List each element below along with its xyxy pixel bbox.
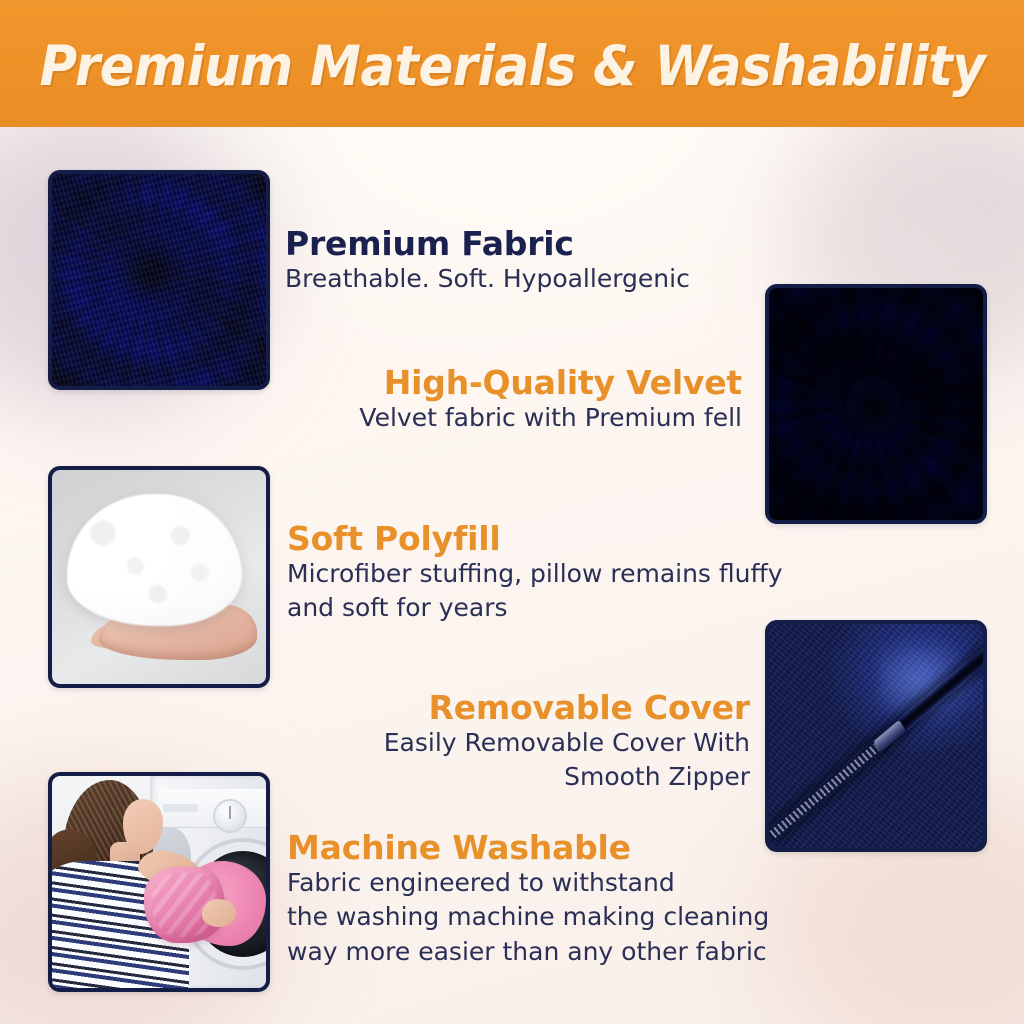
description-line: Easily Removable Cover With bbox=[290, 726, 750, 761]
feature-removable-cover: Removable Cover Easily Removable Cover W… bbox=[290, 690, 750, 795]
polyfill-scene-background bbox=[52, 470, 266, 684]
image-hand-holding-polyfill-stuffing bbox=[48, 466, 270, 688]
image-blue-knit-fabric-swatch bbox=[48, 170, 270, 390]
feature-description-soft-polyfill: Microfiber stuffing, pillow remains fluf… bbox=[287, 557, 787, 626]
page-title: Premium Materials & Washability bbox=[39, 34, 985, 98]
feature-description-machine-washable: Fabric engineered to withstand the washi… bbox=[287, 866, 787, 970]
description-line: and soft for years bbox=[287, 591, 787, 626]
header-banner: Premium Materials & Washability bbox=[0, 0, 1024, 127]
product-feature-infographic: Premium Materials & Washability bbox=[0, 0, 1024, 1024]
description-line: way more easier than any other fabric bbox=[287, 935, 787, 970]
navy-velvet-fabric-texture bbox=[769, 288, 983, 520]
feature-high-quality-velvet: High-Quality Velvet Velvet fabric with P… bbox=[280, 365, 742, 435]
feature-soft-polyfill: Soft Polyfill Microfiber stuffing, pillo… bbox=[287, 521, 787, 626]
image-zipper-on-blue-cover bbox=[765, 620, 987, 852]
feature-premium-fabric: Premium Fabric Breathable. Soft. Hypoall… bbox=[285, 226, 755, 296]
woman-hand bbox=[202, 899, 236, 927]
feature-description-high-quality-velvet: Velvet fabric with Premium fell bbox=[280, 401, 742, 436]
description-line: Velvet fabric with Premium fell bbox=[280, 401, 742, 436]
feature-machine-washable: Machine Washable Fabric engineered to wi… bbox=[287, 830, 787, 969]
feature-description-premium-fabric: Breathable. Soft. Hypoallergenic bbox=[285, 262, 755, 297]
feature-title-soft-polyfill: Soft Polyfill bbox=[287, 521, 787, 557]
zipper-teeth bbox=[769, 744, 879, 838]
description-line: Fabric engineered to withstand bbox=[287, 866, 787, 901]
feature-title-machine-washable: Machine Washable bbox=[287, 830, 787, 866]
white-polyfill-cloud bbox=[67, 494, 242, 627]
description-line: Smooth Zipper bbox=[290, 760, 750, 795]
blue-knit-fabric-texture bbox=[52, 174, 266, 386]
description-line: the washing machine making cleaning bbox=[287, 900, 787, 935]
description-line: Breathable. Soft. Hypoallergenic bbox=[285, 262, 755, 297]
description-line: Microfiber stuffing, pillow remains fluf… bbox=[287, 557, 787, 592]
image-woman-loading-washing-machine bbox=[48, 772, 270, 992]
detergent-drawer bbox=[163, 804, 197, 812]
feature-description-removable-cover: Easily Removable Cover With Smooth Zippe… bbox=[290, 726, 750, 795]
blue-cover-fabric-texture bbox=[769, 624, 983, 848]
feature-title-high-quality-velvet: High-Quality Velvet bbox=[280, 365, 742, 401]
zipper-pull-tab bbox=[872, 720, 905, 753]
feature-title-removable-cover: Removable Cover bbox=[290, 690, 750, 726]
laundry-room-scene bbox=[52, 776, 266, 988]
zipper-seam bbox=[767, 647, 987, 840]
power-dial-icon bbox=[213, 799, 247, 833]
image-navy-velvet-fabric-swatch bbox=[765, 284, 987, 524]
feature-title-premium-fabric: Premium Fabric bbox=[285, 226, 755, 262]
